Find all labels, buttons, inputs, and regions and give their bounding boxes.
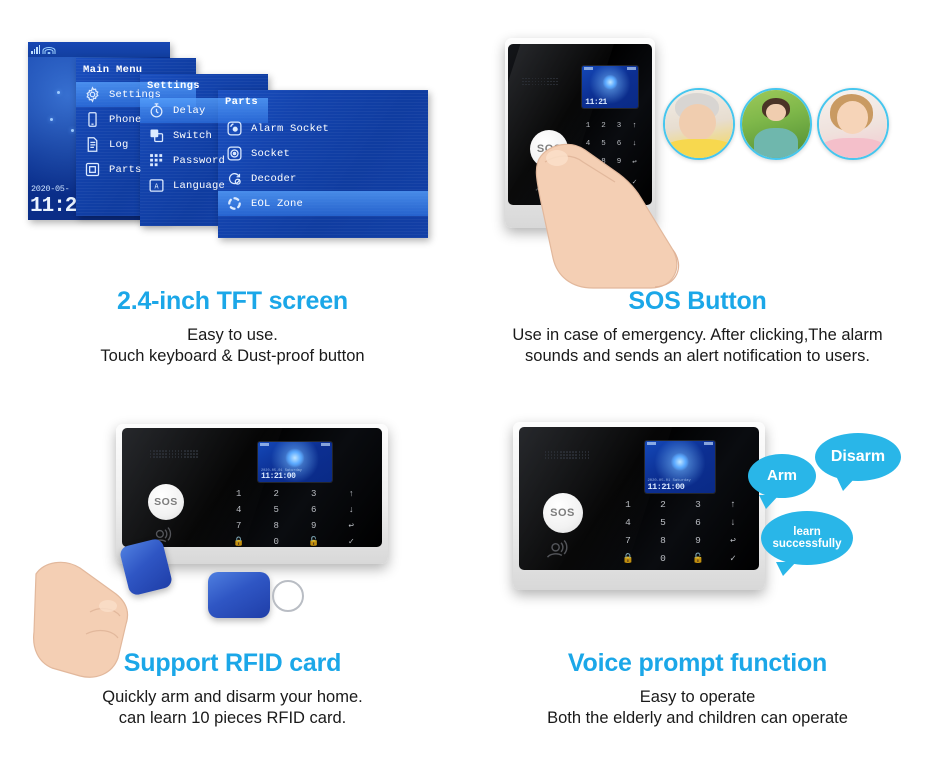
alarm-socket-icon: [226, 120, 243, 137]
alarm-panel-device: 11:21 SOS 1 2 3 ↑ 4: [505, 38, 655, 228]
menu-item-decoder[interactable]: Decoder: [218, 166, 428, 191]
lcd-time: 11:21: [585, 98, 607, 107]
key[interactable]: 2: [601, 122, 606, 130]
menu-item-label: Alarm Socket: [251, 123, 329, 135]
speech-bubble-arm: Arm: [748, 454, 816, 498]
menu-item-socket[interactable]: Socket: [218, 141, 428, 166]
speech-bubble-disarm: Disarm: [815, 433, 901, 481]
menu-item-label: Socket: [251, 148, 290, 160]
phone-icon: [84, 111, 101, 128]
menu-title: Settings: [147, 80, 200, 92]
lcd-display: 11:21: [582, 66, 638, 108]
key[interactable]: 4: [625, 517, 631, 528]
key[interactable]: 5: [274, 505, 279, 515]
key[interactable]: 9: [617, 158, 622, 166]
speaker-grille: [522, 78, 558, 86]
key[interactable]: 3: [695, 499, 701, 510]
switch-icon: [148, 127, 165, 144]
key[interactable]: 6: [617, 140, 622, 148]
menu-item-alarm-socket[interactable]: Alarm Socket: [218, 116, 428, 141]
key[interactable]: 3: [617, 122, 622, 130]
language-icon: A: [148, 177, 165, 194]
menu-item-label: Switch: [173, 130, 212, 142]
panel-tft-screen: 2020-05- 11:21 Main Menu Settings Phone …: [0, 0, 465, 392]
panel-subtitle-line-1: Easy to operate: [465, 687, 930, 709]
timer-icon: [148, 102, 165, 119]
menu-item-label: Parts: [109, 164, 142, 176]
lcd-status-bar: [260, 443, 330, 448]
key[interactable]: 1: [236, 489, 241, 499]
speaker-grille: [545, 451, 590, 459]
panel-subtitle-line-1: Quickly arm and disarm your home.: [0, 687, 465, 709]
rfid-reader-icon: [532, 174, 564, 194]
rfid-fob: [208, 572, 270, 618]
caption-tft: 2.4-inch TFT screen Easy to use. Touch k…: [0, 288, 465, 368]
lcd-time: 11:21:00: [648, 482, 685, 492]
keyring: [272, 580, 304, 612]
keypad[interactable]: 1 2 3 ↑ 4 5 6 ↓ 7 8 9 ↩ 🔒 0 🔓: [611, 495, 751, 567]
key-lock[interactable]: 🔒: [583, 177, 592, 187]
keypad-icon: [148, 152, 165, 169]
status-bar: [28, 42, 170, 57]
device-face: 11:21 SOS 1 2 3 ↑ 4: [508, 44, 651, 206]
menu-item-label: Log: [109, 139, 129, 151]
key-unlock[interactable]: 🔓: [614, 177, 623, 187]
key[interactable]: ↑: [349, 489, 354, 499]
panel-title: SOS Button: [465, 288, 930, 316]
keypad[interactable]: 1 2 3 ↑ 4 5 6 ↓ 7 8 9 ↩ 🔒 0 🔓: [580, 118, 642, 192]
socket-icon: [226, 145, 243, 162]
speaker-grille: [150, 450, 198, 458]
key-confirm[interactable]: ✓: [730, 553, 736, 564]
key[interactable]: ↓: [632, 140, 637, 148]
menu-item-label: Phone: [109, 114, 142, 126]
sos-button[interactable]: SOS: [530, 130, 568, 168]
lcd-display: 2020-05-01 Saturday 11:21:00: [645, 441, 715, 493]
key[interactable]: ↓: [730, 517, 736, 528]
keypad[interactable]: 1 2 3 ↑ 4 5 6 ↓ 7 8 9 ↩ 🔒 0 🔓: [220, 486, 370, 547]
menu-title: Parts: [225, 96, 258, 108]
key[interactable]: 5: [660, 517, 666, 528]
panel-title: 2.4-inch TFT screen: [0, 288, 465, 316]
rfid-reader-icon: [543, 539, 579, 561]
key[interactable]: 2: [274, 489, 279, 499]
key[interactable]: 0: [601, 178, 606, 186]
panel-voice-prompt: 2020-05-01 Saturday 11:21:00 SOS 1 2 3: [465, 392, 930, 784]
menu-list: Alarm Socket Socket Decoder EOL Zone: [218, 116, 428, 216]
lcd-orb-icon: [285, 449, 304, 468]
device-face: 2020-05-01 Saturday 11:21:00 SOS 1 2 3: [122, 428, 382, 547]
key[interactable]: 0: [274, 537, 279, 547]
menu-title: Main Menu: [83, 64, 142, 76]
key[interactable]: 9: [695, 535, 701, 546]
gear-icon: [84, 86, 101, 103]
lcd-status-bar: [647, 442, 713, 447]
caption-voice: Voice prompt function Easy to operate Bo…: [465, 650, 930, 730]
parts-icon: [84, 161, 101, 178]
elderly-woman-photo: [663, 88, 735, 160]
panel-title: Support RFID card: [0, 650, 465, 678]
key[interactable]: 6: [311, 505, 316, 515]
key[interactable]: ↑: [632, 122, 637, 130]
key[interactable]: 7: [586, 158, 591, 166]
key[interactable]: 4: [586, 140, 591, 148]
device-body: 11:21 SOS 1 2 3 ↑ 4: [505, 38, 655, 228]
key[interactable]: 1: [625, 499, 631, 510]
panel-subtitle-line-2: Both the elderly and children can operat…: [465, 708, 930, 730]
caption-sos: SOS Button Use in case of emergency. Aft…: [465, 288, 930, 368]
lcd-time: 11:21:00: [261, 472, 295, 481]
panel-subtitle-line-2: can learn 10 pieces RFID card.: [0, 708, 465, 730]
menu-item-eol-zone[interactable]: EOL Zone: [218, 191, 428, 216]
key-unlock[interactable]: 🔓: [692, 553, 704, 564]
key[interactable]: ↑: [730, 499, 736, 510]
device-body: 2020-05-01 Saturday 11:21:00 SOS 1 2 3: [513, 422, 765, 590]
key[interactable]: 8: [601, 158, 606, 166]
lcd-display: 2020-05-01 Saturday 11:21:00: [258, 442, 332, 482]
feature-grid: 2020-05- 11:21 Main Menu Settings Phone …: [0, 0, 930, 784]
sos-button[interactable]: SOS: [543, 493, 583, 533]
key[interactable]: 2: [660, 499, 666, 510]
key[interactable]: 3: [311, 489, 316, 499]
key[interactable]: 5: [601, 140, 606, 148]
signal-icon: [31, 45, 40, 54]
panel-subtitle-line-1: Use in case of emergency. After clicking…: [465, 325, 930, 347]
key[interactable]: 7: [236, 521, 241, 531]
young-girl-photo: [817, 88, 889, 160]
wifi-icon: [43, 45, 54, 54]
svg-text:A: A: [154, 181, 159, 190]
sos-button[interactable]: SOS: [148, 484, 184, 520]
lcd-orb-icon: [603, 75, 618, 90]
panel-subtitle-line-2: sounds and sends an alert notification t…: [465, 346, 930, 368]
key[interactable]: 8: [274, 521, 279, 531]
key-lock[interactable]: 🔒: [233, 537, 244, 547]
panel-sos-button: 11:21 SOS 1 2 3 ↑ 4: [465, 0, 930, 392]
key[interactable]: 6: [695, 517, 701, 528]
document-icon: [84, 136, 101, 153]
key[interactable]: 1: [586, 122, 591, 130]
key[interactable]: ↩: [349, 521, 354, 531]
pregnant-woman-photo: [740, 88, 812, 160]
key[interactable]: 7: [625, 535, 631, 546]
panel-title: Voice prompt function: [465, 650, 930, 678]
decoder-icon: [226, 170, 243, 187]
lcd-orb-icon: [670, 453, 688, 471]
key[interactable]: 0: [660, 553, 666, 564]
key-confirm[interactable]: ✓: [632, 177, 637, 187]
key-unlock[interactable]: 🔓: [308, 537, 319, 547]
menu-item-label: EOL Zone: [251, 198, 303, 210]
lcd-status-bar: [584, 67, 636, 72]
key[interactable]: 9: [311, 521, 316, 531]
menu-item-label: Delay: [173, 105, 206, 117]
device-face: 2020-05-01 Saturday 11:21:00 SOS 1 2 3: [519, 427, 760, 570]
speech-bubble-learn-successfully: learn successfully: [761, 511, 853, 565]
key-lock[interactable]: 🔒: [622, 553, 634, 564]
alarm-panel-device: 2020-05-01 Saturday 11:21:00 SOS 1 2 3: [513, 422, 765, 590]
menu-item-label: Decoder: [251, 173, 297, 185]
panel-subtitle-line-1: Easy to use.: [0, 325, 465, 347]
key-confirm[interactable]: ✓: [349, 537, 354, 547]
user-photos: [663, 88, 889, 160]
eol-zone-icon: [226, 195, 243, 212]
key[interactable]: ↩: [730, 535, 736, 546]
key[interactable]: ↩: [632, 157, 637, 167]
panel-rfid-card: 2020-05-01 Saturday 11:21:00 SOS 1 2 3: [0, 392, 465, 784]
key[interactable]: 8: [660, 535, 666, 546]
key[interactable]: ↓: [349, 505, 354, 515]
panel-subtitle-line-2: Touch keyboard & Dust-proof button: [0, 346, 465, 368]
caption-rfid: Support RFID card Quickly arm and disarm…: [0, 650, 465, 730]
home-date: 2020-05-: [31, 184, 69, 194]
key[interactable]: 4: [236, 505, 241, 515]
